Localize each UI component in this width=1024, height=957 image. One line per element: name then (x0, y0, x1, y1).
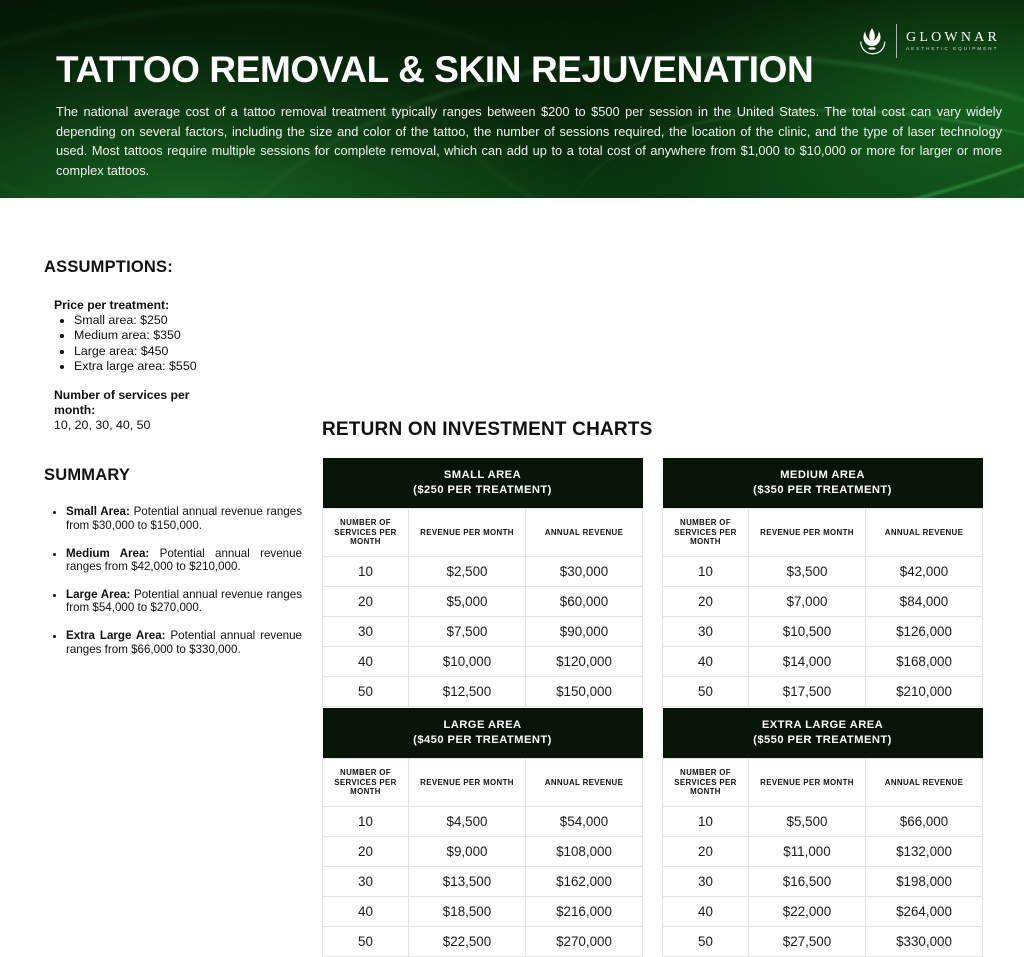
table-cell: $162,000 (526, 866, 643, 896)
assumptions-block: Price per treatment: Small area: $250 Me… (54, 298, 306, 433)
roi-table-extra-large-area: EXTRA LARGE AREA($550 PER TREATMENT)NUMB… (662, 708, 983, 957)
table-cell: $10,500 (749, 616, 866, 646)
summary-list: Small Area: Potential annual revenue ran… (44, 505, 302, 656)
column-header: REVENUE PER MONTH (749, 759, 866, 807)
table-title-main: MEDIUM AREA (780, 469, 865, 481)
column-header: ANNUAL REVENUE (526, 759, 643, 807)
table-cell: 20 (663, 836, 749, 866)
table-title-main: SMALL AREA (444, 469, 521, 481)
table-row: 10$2,500$30,000 (323, 556, 643, 586)
table-row: 30$16,500$198,000 (663, 866, 983, 896)
column-header: ANNUAL REVENUE (866, 759, 983, 807)
table-title: MEDIUM AREA($350 PER TREATMENT) (663, 458, 983, 509)
table-row: 40$18,500$216,000 (323, 896, 643, 926)
table-cell: $5,500 (749, 806, 866, 836)
table-header-row: NUMBER OF SERVICES PER MONTHREVENUE PER … (663, 509, 983, 557)
main-content: ASSUMPTIONS: Price per treatment: Small … (0, 198, 1024, 768)
list-item: Large area: $450 (74, 344, 306, 359)
list-item: Medium area: $350 (74, 328, 306, 343)
table-cell: 10 (663, 556, 749, 586)
table-cell: 30 (323, 616, 409, 646)
table-cell: $264,000 (866, 896, 983, 926)
table-row: 20$7,000$84,000 (663, 586, 983, 616)
page-header: GLOWNAR AESTHETIC EQUIPMENT TATTOO REMOV… (0, 0, 1024, 198)
table-cell: $17,500 (749, 676, 866, 706)
table-cell: 50 (323, 676, 409, 706)
column-header: REVENUE PER MONTH (409, 509, 526, 557)
table-cell: $10,000 (409, 646, 526, 676)
list-item: Medium Area: Potential annual revenue ra… (66, 547, 302, 574)
table-row: 40$22,000$264,000 (663, 896, 983, 926)
table-cell: $330,000 (866, 926, 983, 956)
table-row: 20$5,000$60,000 (323, 586, 643, 616)
table-cell: $3,500 (749, 556, 866, 586)
table-cell: 30 (323, 866, 409, 896)
table-header-row: NUMBER OF SERVICES PER MONTHREVENUE PER … (323, 759, 643, 807)
brand-name: GLOWNAR (906, 31, 1000, 45)
summary-term: Small Area: (66, 505, 130, 518)
table-title: LARGE AREA($450 PER TREATMENT) (323, 708, 643, 759)
table-row: 30$13,500$162,000 (323, 866, 643, 896)
brand-divider (896, 24, 897, 58)
table-title-row: SMALL AREA($250 PER TREATMENT) (323, 458, 643, 509)
table-cell: $54,000 (526, 806, 643, 836)
table-row: 10$5,500$66,000 (663, 806, 983, 836)
lotus-flower-icon (857, 25, 887, 57)
table-cell: $210,000 (866, 676, 983, 706)
table-cell: $4,500 (409, 806, 526, 836)
table-title-main: EXTRA LARGE AREA (762, 719, 883, 731)
table-cell: $16,500 (749, 866, 866, 896)
assumptions-heading: ASSUMPTIONS: (44, 258, 306, 277)
table-title: EXTRA LARGE AREA($550 PER TREATMENT) (663, 708, 983, 759)
table-row: 10$3,500$42,000 (663, 556, 983, 586)
table-cell: 40 (663, 646, 749, 676)
column-header: NUMBER OF SERVICES PER MONTH (323, 509, 409, 557)
table-title-row: EXTRA LARGE AREA($550 PER TREATMENT) (663, 708, 983, 759)
page-title: TATTOO REMOVAL & SKIN REJUVENATION (56, 51, 813, 88)
table-title-row: MEDIUM AREA($350 PER TREATMENT) (663, 458, 983, 509)
table-row: 40$14,000$168,000 (663, 646, 983, 676)
table-cell: $5,000 (409, 586, 526, 616)
table-header-row: NUMBER OF SERVICES PER MONTHREVENUE PER … (323, 509, 643, 557)
table-title-sub: ($250 PER TREATMENT) (413, 484, 552, 496)
table-row: 20$9,000$108,000 (323, 836, 643, 866)
table-cell: 50 (663, 926, 749, 956)
summary-term: Large Area: (66, 588, 130, 601)
list-item: Extra Large Area: Potential annual reven… (66, 629, 302, 656)
table-cell: $2,500 (409, 556, 526, 586)
table-cell: $168,000 (866, 646, 983, 676)
roi-table-small-area: SMALL AREA($250 PER TREATMENT)NUMBER OF … (322, 458, 643, 707)
table-cell: 30 (663, 866, 749, 896)
header-description: The national average cost of a tattoo re… (56, 102, 1002, 180)
table-cell: $18,500 (409, 896, 526, 926)
table-cell: 50 (323, 926, 409, 956)
table-header-row: NUMBER OF SERVICES PER MONTHREVENUE PER … (663, 759, 983, 807)
roi-table-large-area: LARGE AREA($450 PER TREATMENT)NUMBER OF … (322, 708, 643, 957)
table-cell: $14,000 (749, 646, 866, 676)
table-cell: $90,000 (526, 616, 643, 646)
brand-wordmark: GLOWNAR AESTHETIC EQUIPMENT (906, 31, 1000, 52)
table-cell: $27,500 (749, 926, 866, 956)
charts-section-title: RETURN ON INVESTMENT CHARTS (322, 419, 653, 441)
column-header: REVENUE PER MONTH (749, 509, 866, 557)
list-item: Small area: $250 (74, 313, 306, 328)
table-cell: $7,500 (409, 616, 526, 646)
table-cell: $132,000 (866, 836, 983, 866)
table-cell: 10 (323, 556, 409, 586)
table-cell: $270,000 (526, 926, 643, 956)
table-cell: $42,000 (866, 556, 983, 586)
column-header: NUMBER OF SERVICES PER MONTH (663, 759, 749, 807)
sidebar: ASSUMPTIONS: Price per treatment: Small … (44, 198, 306, 670)
table-cell: $22,000 (749, 896, 866, 926)
services-per-month-label: Number of services per month: (54, 388, 214, 418)
list-item: Small Area: Potential annual revenue ran… (66, 505, 302, 532)
table-cell: $13,500 (409, 866, 526, 896)
column-header: ANNUAL REVENUE (866, 509, 983, 557)
table-row: 50$27,500$330,000 (663, 926, 983, 956)
roi-table-medium-area: MEDIUM AREA($350 PER TREATMENT)NUMBER OF… (662, 458, 983, 707)
table-title: SMALL AREA($250 PER TREATMENT) (323, 458, 643, 509)
table-title-row: LARGE AREA($450 PER TREATMENT) (323, 708, 643, 759)
table-cell: 10 (663, 806, 749, 836)
table-cell: $198,000 (866, 866, 983, 896)
table-cell: $108,000 (526, 836, 643, 866)
table-cell: 40 (663, 896, 749, 926)
table-cell: $7,000 (749, 586, 866, 616)
table-cell: 50 (663, 676, 749, 706)
table-title-main: LARGE AREA (443, 719, 521, 731)
column-header: REVENUE PER MONTH (409, 759, 526, 807)
price-per-treatment-label: Price per treatment: (54, 298, 306, 313)
brand-logo: GLOWNAR AESTHETIC EQUIPMENT (857, 24, 1000, 58)
table-cell: 20 (323, 586, 409, 616)
table-cell: $150,000 (526, 676, 643, 706)
table-cell: 20 (323, 836, 409, 866)
table-row: 10$4,500$54,000 (323, 806, 643, 836)
table-cell: $126,000 (866, 616, 983, 646)
list-item: Large Area: Potential annual revenue ran… (66, 588, 302, 615)
table-row: 50$12,500$150,000 (323, 676, 643, 706)
column-header: ANNUAL REVENUE (526, 509, 643, 557)
table-title-sub: ($550 PER TREATMENT) (753, 734, 892, 746)
table-cell: $22,500 (409, 926, 526, 956)
table-cell: $84,000 (866, 586, 983, 616)
table-cell: 40 (323, 896, 409, 926)
table-cell: $120,000 (526, 646, 643, 676)
table-cell: $66,000 (866, 806, 983, 836)
table-cell: 40 (323, 646, 409, 676)
table-row: 30$10,500$126,000 (663, 616, 983, 646)
table-cell: $60,000 (526, 586, 643, 616)
table-title-sub: ($450 PER TREATMENT) (413, 734, 552, 746)
summary-term: Medium Area: (66, 547, 149, 560)
list-item: Extra large area: $550 (74, 359, 306, 374)
summary-term: Extra Large Area: (66, 629, 166, 642)
table-row: 50$17,500$210,000 (663, 676, 983, 706)
table-cell: $12,500 (409, 676, 526, 706)
summary-heading: SUMMARY (44, 466, 306, 485)
table-row: 50$22,500$270,000 (323, 926, 643, 956)
brand-tagline: AESTHETIC EQUIPMENT (906, 47, 1000, 52)
table-cell: 20 (663, 586, 749, 616)
column-header: NUMBER OF SERVICES PER MONTH (323, 759, 409, 807)
table-row: 40$10,000$120,000 (323, 646, 643, 676)
column-header: NUMBER OF SERVICES PER MONTH (663, 509, 749, 557)
table-row: 20$11,000$132,000 (663, 836, 983, 866)
services-per-month-value: 10, 20, 30, 40, 50 (54, 418, 306, 433)
table-cell: 30 (663, 616, 749, 646)
table-cell: $30,000 (526, 556, 643, 586)
table-cell: $11,000 (749, 836, 866, 866)
price-per-treatment-list: Small area: $250 Medium area: $350 Large… (54, 313, 306, 374)
table-cell: $9,000 (409, 836, 526, 866)
table-cell: 10 (323, 806, 409, 836)
table-row: 30$7,500$90,000 (323, 616, 643, 646)
table-cell: $216,000 (526, 896, 643, 926)
table-title-sub: ($350 PER TREATMENT) (753, 484, 892, 496)
